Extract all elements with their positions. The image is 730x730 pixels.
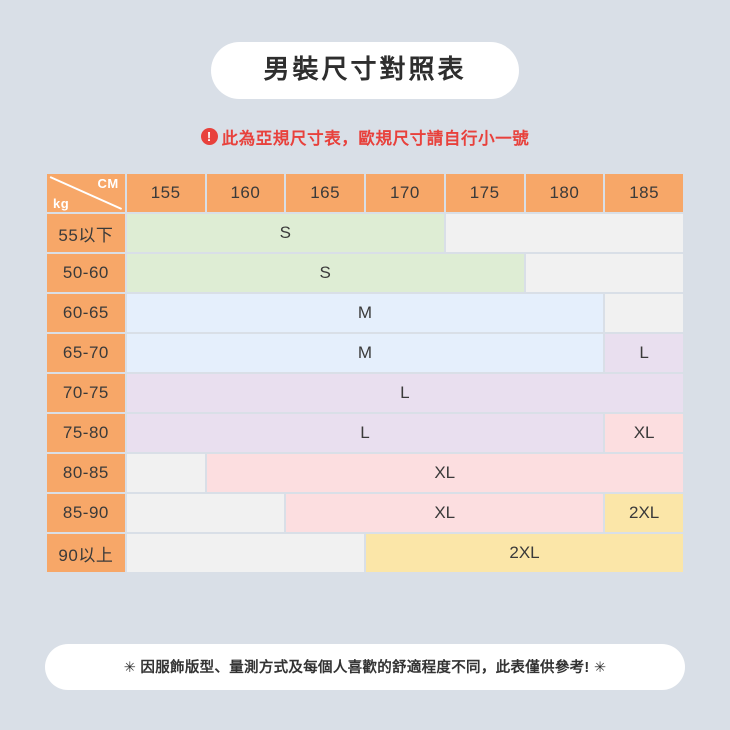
column-header-180: 180 <box>526 174 604 212</box>
size-cell-L: L <box>127 374 683 412</box>
page-title: 男裝尺寸對照表 <box>211 42 518 99</box>
row-header-55以下: 55以下 <box>47 214 125 252</box>
row-header-75-80: 75-80 <box>47 414 125 452</box>
warning-text: 此為亞規尺寸表，歐規尺寸請自行小一號 <box>222 125 530 149</box>
warning-banner: ! 此為亞規尺寸表，歐規尺寸請自行小一號 <box>0 125 730 149</box>
table-header: CM kg 155 160 165 170 175 180 185 <box>47 174 683 212</box>
row-header-60-65: 60-65 <box>47 294 125 332</box>
axis-label-cm: CM <box>98 176 119 191</box>
table-body: 55以下S50-60S60-65M65-70ML70-75L75-80LXL80… <box>47 214 683 572</box>
table-row: 55以下S <box>47 214 683 252</box>
size-cell-empty <box>526 254 684 292</box>
row-header-80-85: 80-85 <box>47 454 125 492</box>
size-cell-empty <box>605 294 683 332</box>
size-chart-table-container: CM kg 155 160 165 170 175 180 185 55以下S5… <box>45 172 685 574</box>
column-header-165: 165 <box>286 174 364 212</box>
size-cell-empty <box>446 214 683 252</box>
size-cell-S: S <box>127 214 444 252</box>
size-chart-table: CM kg 155 160 165 170 175 180 185 55以下S5… <box>45 172 685 574</box>
table-header-row: CM kg 155 160 165 170 175 180 185 <box>47 174 683 212</box>
axis-label-kg: kg <box>53 196 69 211</box>
table-row: 70-75L <box>47 374 683 412</box>
footer-note: ✳ 因服飾版型、量測方式及每個人喜歡的舒適程度不同，此表僅供參考! ✳ <box>45 644 685 690</box>
table-row: 75-80LXL <box>47 414 683 452</box>
exclamation-circle-icon: ! <box>201 128 218 145</box>
title-bar: 男裝尺寸對照表 <box>0 0 730 99</box>
table-row: 50-60S <box>47 254 683 292</box>
footer-note-container: ✳ 因服飾版型、量測方式及每個人喜歡的舒適程度不同，此表僅供參考! ✳ <box>45 644 685 690</box>
size-cell-XL: XL <box>605 414 683 452</box>
row-header-85-90: 85-90 <box>47 494 125 532</box>
size-cell-empty <box>127 534 364 572</box>
size-cell-L: L <box>605 334 683 372</box>
table-row: 90以上2XL <box>47 534 683 572</box>
column-header-175: 175 <box>446 174 524 212</box>
column-header-155: 155 <box>127 174 205 212</box>
size-cell-empty <box>127 494 285 532</box>
column-header-170: 170 <box>366 174 444 212</box>
table-row: 60-65M <box>47 294 683 332</box>
size-cell-M: M <box>127 294 604 332</box>
column-header-160: 160 <box>207 174 285 212</box>
row-header-70-75: 70-75 <box>47 374 125 412</box>
size-cell-empty <box>127 454 205 492</box>
size-cell-2XL: 2XL <box>366 534 683 572</box>
size-cell-L: L <box>127 414 604 452</box>
table-row: 85-90XL2XL <box>47 494 683 532</box>
column-header-185: 185 <box>605 174 683 212</box>
size-cell-S: S <box>127 254 524 292</box>
row-header-90以上: 90以上 <box>47 534 125 572</box>
table-corner-axis-cell: CM kg <box>47 174 125 212</box>
size-cell-XL: XL <box>207 454 684 492</box>
table-row: 80-85XL <box>47 454 683 492</box>
size-cell-2XL: 2XL <box>605 494 683 532</box>
table-row: 65-70ML <box>47 334 683 372</box>
size-cell-M: M <box>127 334 604 372</box>
row-header-50-60: 50-60 <box>47 254 125 292</box>
size-cell-XL: XL <box>286 494 603 532</box>
row-header-65-70: 65-70 <box>47 334 125 372</box>
